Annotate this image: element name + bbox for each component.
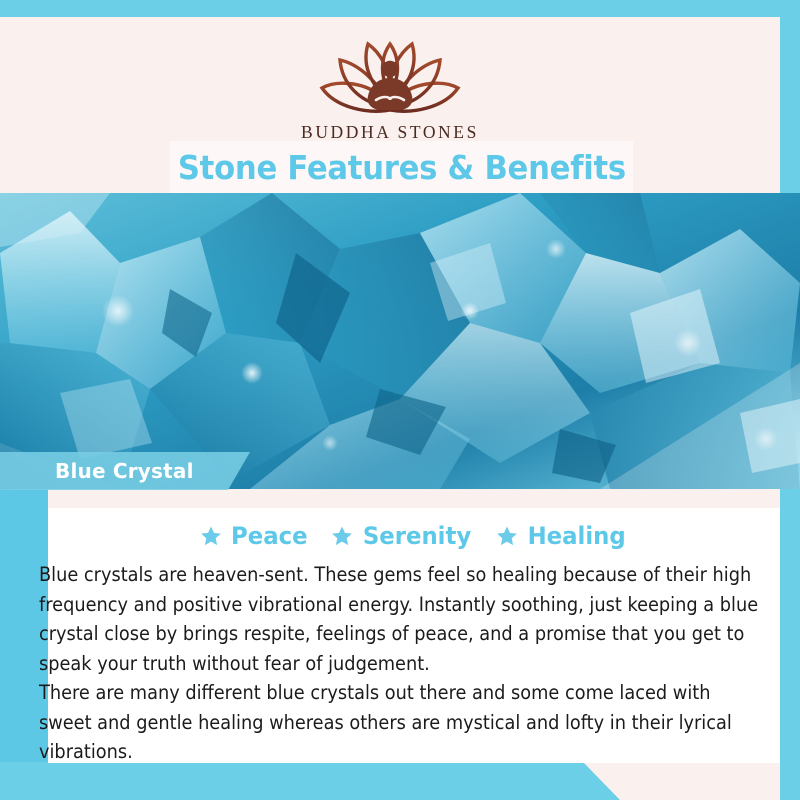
stone-name-tab: Blue Crystal [0, 452, 250, 490]
description-text: Blue crystals are heaven-sent. These gem… [39, 556, 772, 767]
keyword-item-peace: Peace [200, 522, 310, 550]
keyword-label-serenity: Serenity [363, 522, 471, 550]
lotus-meditation-logo-icon [306, 22, 474, 120]
page-title: Stone Features & Benefits [177, 148, 625, 187]
star-icon [331, 525, 353, 547]
poster-root: BUDDHA STONES Stone Features & Benefits [0, 0, 800, 800]
brand-name: BUDDHA STONES [0, 122, 780, 143]
brand-logo: BUDDHA STONES [0, 22, 780, 143]
title-banner: Stone Features & Benefits [170, 141, 633, 193]
description-paragraph-2: There are many different blue crystals o… [39, 678, 766, 767]
crystal-photo-art [0, 193, 800, 489]
description-paragraph-1: Blue crystals are heaven-sent. These gem… [39, 560, 766, 678]
keyword-label-healing: Healing [528, 522, 626, 550]
crystal-photo [0, 193, 800, 489]
keyword-item-serenity: Serenity [331, 522, 474, 550]
star-icon [496, 525, 518, 547]
content-panel: Peace Serenity Healing B [48, 508, 780, 763]
keyword-item-healing: Healing [496, 522, 628, 550]
decorative-band-bottom [0, 762, 620, 800]
star-icon [200, 525, 222, 547]
divider-strip [48, 489, 780, 508]
keyword-label-peace: Peace [231, 522, 308, 550]
keyword-list: Peace Serenity Healing [48, 508, 780, 556]
decorative-band-top [0, 0, 800, 17]
stone-name-label: Blue Crystal [55, 459, 194, 483]
